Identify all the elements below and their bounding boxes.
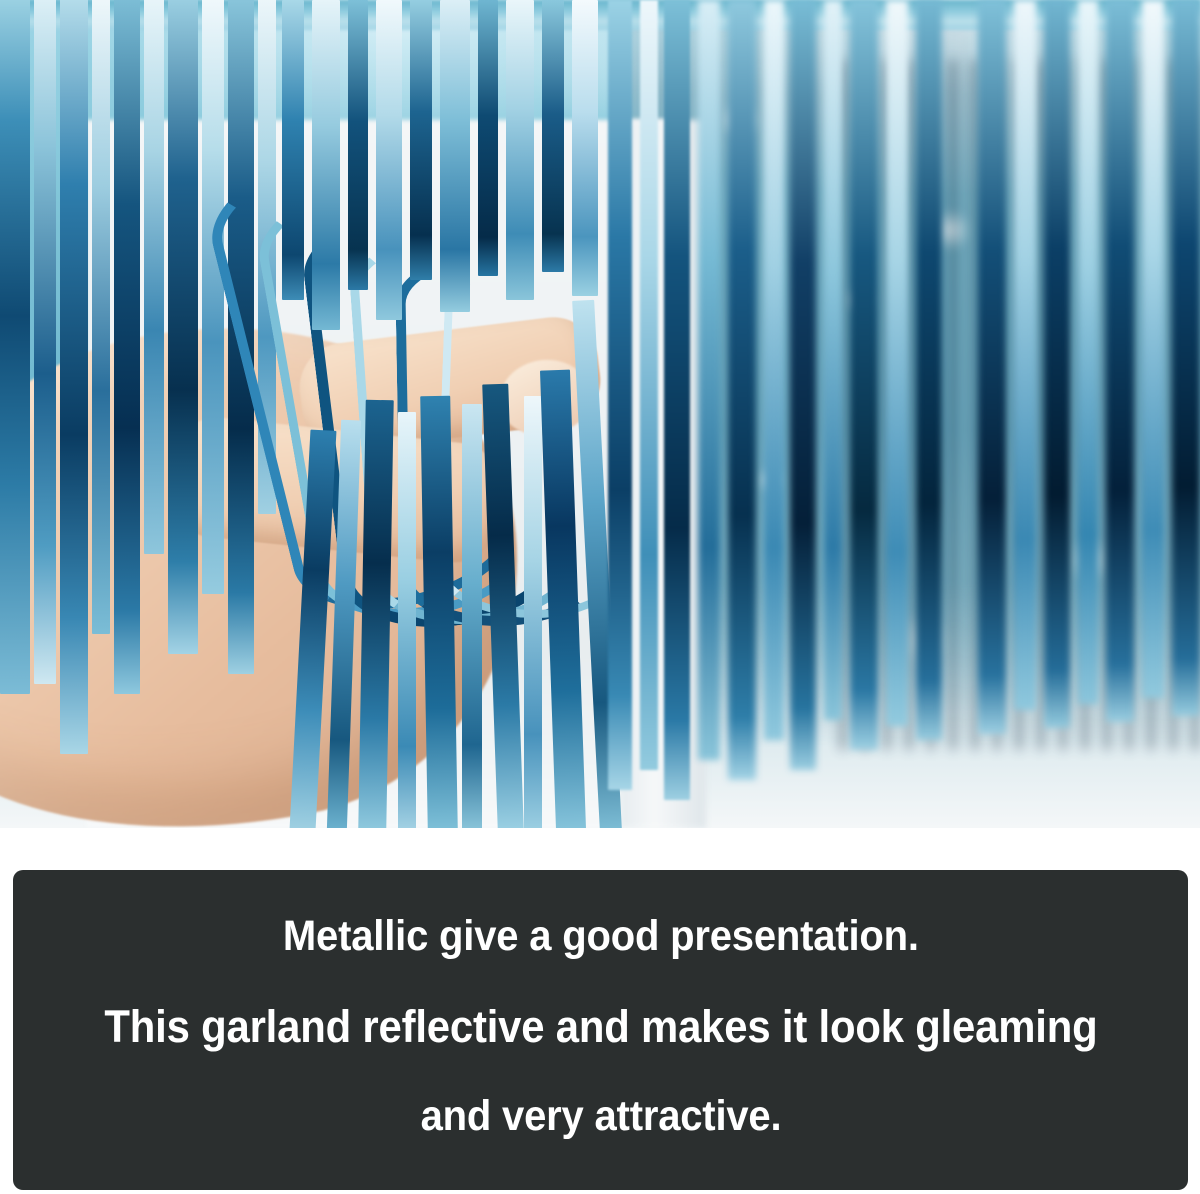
fringe-strip	[1106, 0, 1134, 722]
caption-line-3: and very attractive.	[420, 1095, 781, 1138]
fringe-strip	[1142, 0, 1164, 698]
fringe-strip	[764, 0, 784, 740]
fringe-strip	[114, 0, 140, 694]
fringe-strip	[0, 0, 30, 694]
fringe-strip	[978, 0, 1006, 734]
fringe-strip	[608, 0, 632, 790]
product-photo	[0, 0, 1200, 828]
fringe-strip	[886, 0, 908, 726]
caption-line-2: This garland reflective and makes it loo…	[104, 1004, 1097, 1049]
fringe-strip	[348, 0, 368, 290]
fringe-strip	[572, 0, 598, 296]
fringe-strip	[1078, 0, 1098, 704]
fringe-strip	[1014, 0, 1036, 710]
product-image-page: Metallic give a good presentation. This …	[0, 0, 1200, 1194]
fringe-strip	[664, 0, 690, 800]
fringe-strip	[478, 0, 498, 276]
fringe-strip	[850, 0, 878, 750]
fringe-strip	[916, 0, 942, 740]
fringe-strip	[144, 0, 164, 554]
fringe-strip	[524, 396, 542, 828]
fringe-strip	[92, 0, 110, 634]
caption-line-1: Metallic give a good presentation.	[283, 915, 919, 958]
fringe-strip	[282, 0, 304, 300]
fringe-strip	[698, 0, 720, 760]
fringe-strip	[312, 0, 340, 330]
fringe-strip	[1044, 0, 1070, 728]
foreground-fringe-strips	[0, 0, 1200, 828]
fringe-strip	[728, 0, 756, 780]
fringe-strip	[376, 0, 402, 320]
fringe-strip	[34, 0, 56, 684]
fringe-strip	[398, 412, 416, 828]
caption-box: Metallic give a good presentation. This …	[13, 870, 1188, 1190]
fringe-strip	[462, 404, 482, 828]
fringe-strip	[506, 0, 534, 300]
fringe-strip	[202, 0, 224, 594]
fringe-strip	[950, 0, 970, 716]
fringe-strip	[440, 0, 470, 312]
fringe-strip	[168, 0, 198, 654]
fringe-strip	[60, 0, 88, 754]
fringe-strip	[640, 0, 658, 770]
fringe-strip	[824, 0, 842, 720]
fringe-strip	[410, 0, 432, 280]
fringe-strip	[1172, 0, 1200, 716]
fringe-strip	[790, 0, 816, 770]
fringe-strip	[542, 0, 564, 272]
